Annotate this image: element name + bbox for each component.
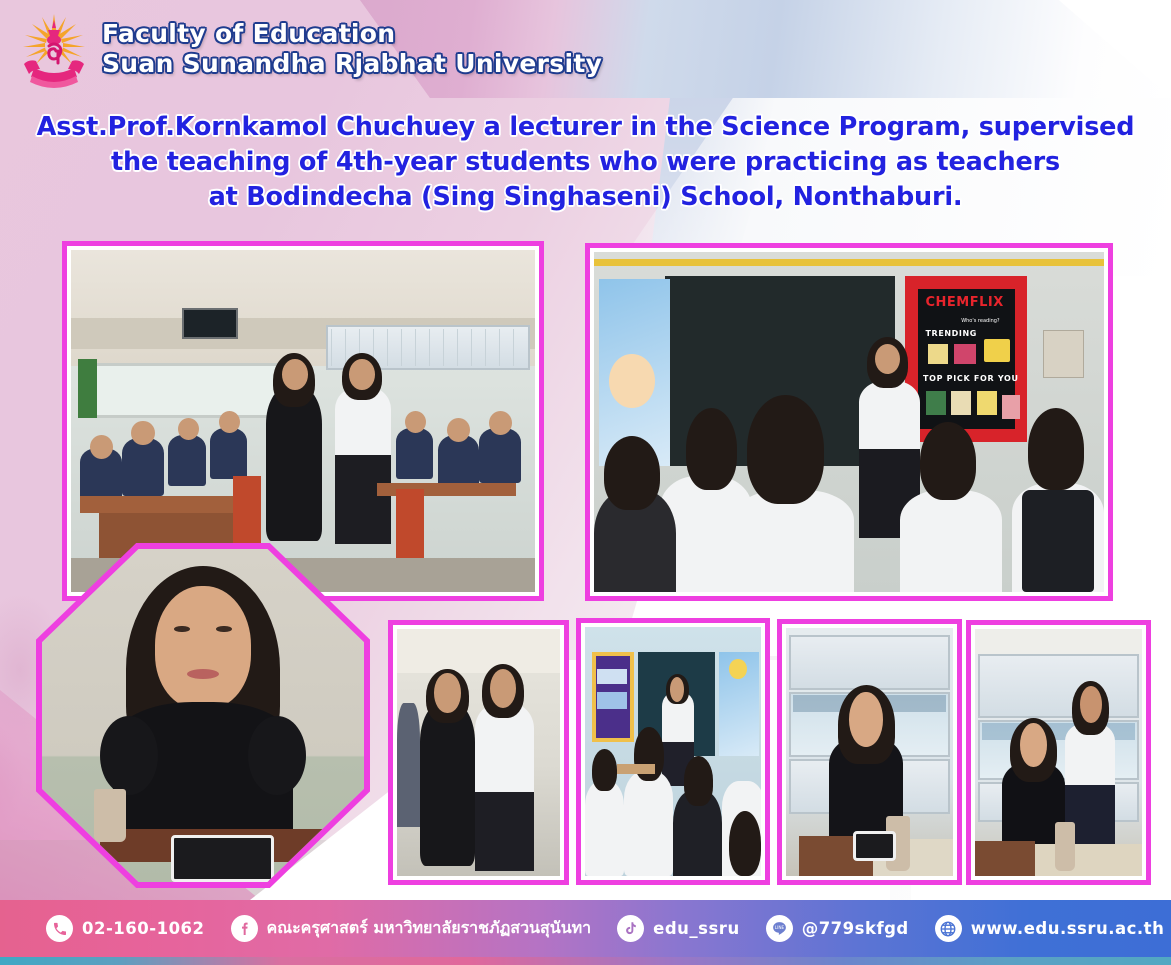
ssru-emblem-logo (18, 6, 90, 90)
photo-image (585, 627, 761, 876)
header-content: Faculty of Education Suan Sunandha Rjabh… (18, 6, 602, 90)
faculty-name: Faculty of Education (102, 21, 602, 48)
line-icon: LINE (766, 915, 793, 942)
poster-root: Faculty of Education Suan Sunandha Rjabh… (0, 0, 1171, 965)
photo-image (42, 549, 364, 882)
photo-lecturer-at-table (777, 619, 962, 885)
footer-item-facebook[interactable]: คณะครุศาสตร์ มหาวิทยาลัยราชภัฏสวนสุนันทา (231, 915, 592, 942)
footer-item-phone[interactable]: 02-160-1062 (46, 915, 205, 942)
footer-tiktok-label: edu_ssru (653, 919, 740, 938)
phone-icon (46, 915, 73, 942)
tiktok-icon (617, 915, 644, 942)
photo-image (397, 629, 560, 876)
footer-item-line[interactable]: LINE @779skfgd (766, 915, 909, 942)
page-title: Asst.Prof.Kornkamol Chuchuey a lecturer … (0, 110, 1171, 215)
title-line-3: at Bodindecha (Sing Singhaseni) School, … (0, 180, 1171, 215)
university-name: Suan Sunandha Rjabhat University (102, 51, 602, 78)
photo-lecturer-and-student (966, 620, 1151, 885)
title-line-2: the teaching of 4th-year students who we… (0, 145, 1171, 180)
footer-bar: 02-160-1062 คณะครุศาสตร์ มหาวิทยาลัยราชภ… (0, 900, 1171, 957)
photo-two-women-hallway (388, 620, 569, 885)
footer-phone-label: 02-160-1062 (82, 919, 205, 938)
photo-student-teacher-blackboard: CHEMFLIX Who's reading? TRENDING TOP PIC… (585, 243, 1113, 601)
title-line-1: Asst.Prof.Kornkamol Chuchuey a lecturer … (0, 110, 1171, 145)
bottom-accent-strip (0, 957, 1171, 965)
photo-image (975, 629, 1142, 876)
footer-item-tiktok[interactable]: edu_ssru (617, 915, 740, 942)
brand-text: Faculty of Education Suan Sunandha Rjabh… (102, 19, 602, 77)
globe-icon (935, 915, 962, 942)
photo-image: CHEMFLIX Who's reading? TRENDING TOP PIC… (594, 252, 1104, 592)
footer-line-label: @779skfgd (802, 919, 909, 938)
photo-teaching-smartboard (576, 618, 770, 885)
footer-item-website[interactable]: www.edu.ssru.ac.th (935, 915, 1165, 942)
facebook-icon (231, 915, 258, 942)
footer-contact-list: 02-160-1062 คณะครุศาสตร์ มหาวิทยาลัยราชภ… (0, 915, 1171, 942)
photo-image (71, 250, 535, 592)
svg-text:LINE: LINE (774, 925, 784, 931)
photo-lecturer-portrait (36, 543, 370, 888)
photo-image (786, 628, 953, 876)
footer-website-label: www.edu.ssru.ac.th (971, 919, 1165, 938)
footer-facebook-label: คณะครุศาสตร์ มหาวิทยาลัยราชภัฏสวนสุนันทา (267, 916, 592, 941)
